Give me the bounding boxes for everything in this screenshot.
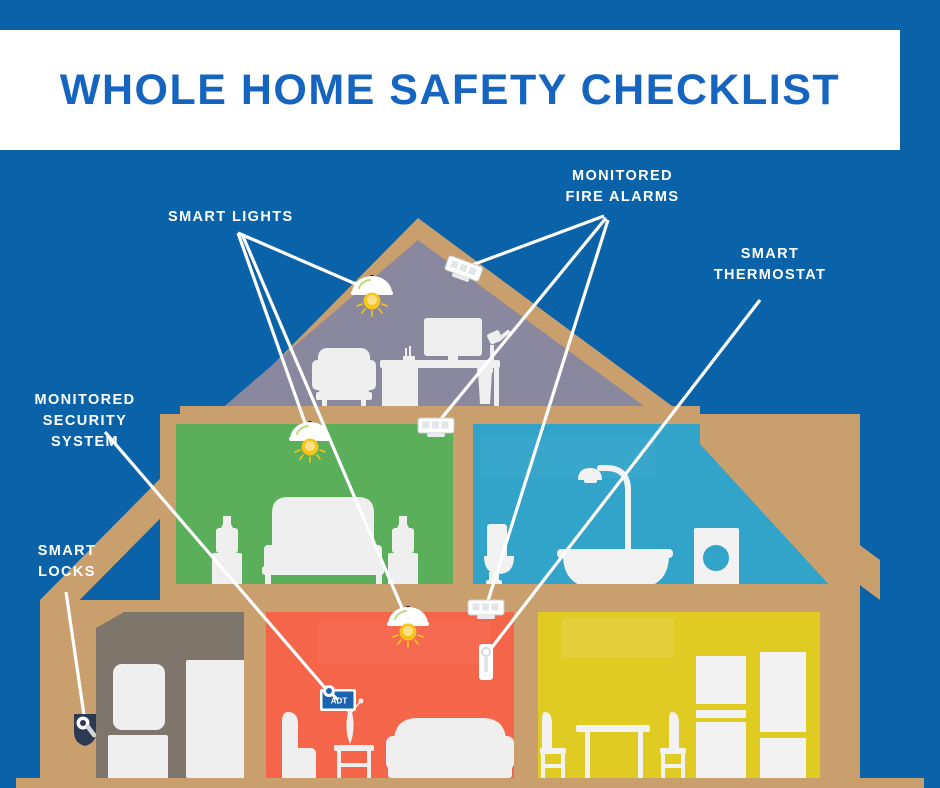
callout-security-line2: SECURITY: [10, 411, 160, 432]
callout-thermostat-line2: THERMOSTAT: [690, 265, 850, 286]
smart-lock-icon: [74, 714, 96, 746]
callout-smart-lights-line1: SMART LIGHTS: [168, 207, 294, 228]
callout-monitored-fire-alarms: MONITORED FIRE ALARMS: [520, 166, 725, 208]
callout-fire-alarms-line1: MONITORED: [520, 166, 725, 187]
callout-locks-line2: LOCKS: [12, 562, 122, 583]
callout-thermostat-line1: SMART: [690, 244, 850, 265]
adt-brand-text: ADT: [331, 697, 348, 706]
page-title: WHOLE HOME SAFETY CHECKLIST: [60, 66, 840, 115]
callout-security-line1: MONITORED: [10, 390, 160, 411]
title-banner: WHOLE HOME SAFETY CHECKLIST: [0, 30, 900, 150]
callout-smart-lights: SMART LIGHTS: [168, 207, 294, 228]
thermostat-icon: [479, 644, 493, 680]
callout-security-line3: SYSTEM: [10, 432, 160, 453]
callout-locks-line1: SMART: [12, 541, 122, 562]
callout-smart-locks: SMART LOCKS: [12, 541, 122, 583]
callout-smart-thermostat: SMART THERMOSTAT: [690, 244, 850, 286]
callout-monitored-security-system: MONITORED SECURITY SYSTEM: [10, 390, 160, 453]
foundation: [16, 778, 924, 788]
callout-fire-alarms-line2: FIRE ALARMS: [520, 187, 725, 208]
